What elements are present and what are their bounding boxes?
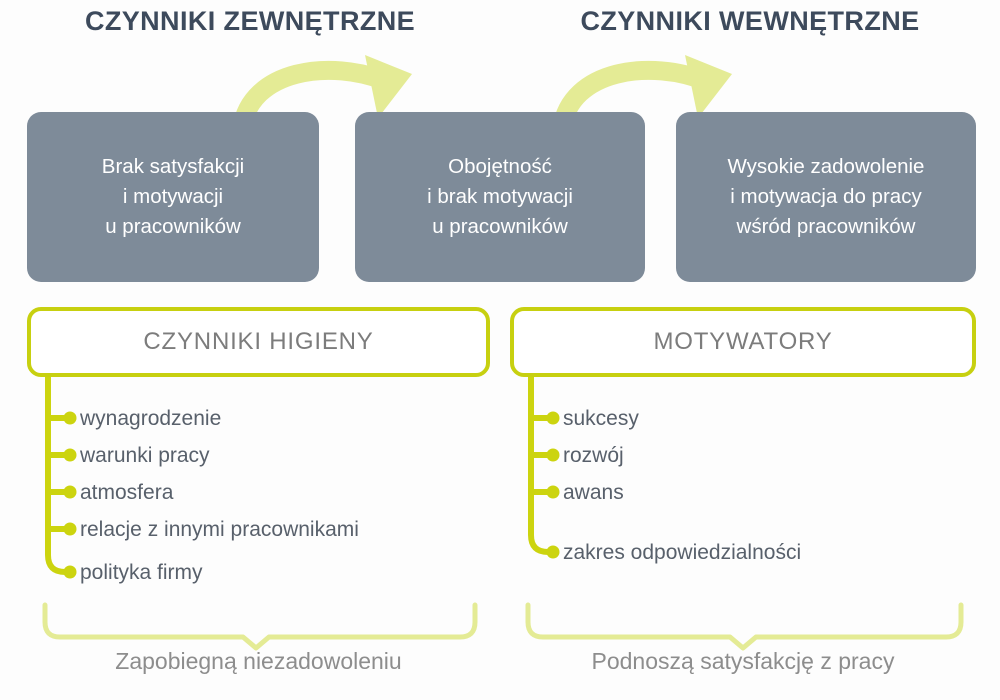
list-item: rozwój xyxy=(563,437,801,474)
bullet-list-hygiene: wynagrodzenie warunki pracy atmosfera re… xyxy=(80,400,359,591)
bullet-dot-icon xyxy=(64,412,77,425)
bullet-dot-icon xyxy=(547,546,560,559)
category-label-motivators: MOTYWATORY xyxy=(653,328,832,356)
bullet-list-motivators: sukcesy rozwój awans zakres odpowiedzial… xyxy=(563,400,801,571)
category-box-hygiene: CZYNNIKI HIGIENY xyxy=(27,307,490,377)
list-item: zakres odpowiedzialności xyxy=(563,534,801,571)
state-box-line: Brak satysfakcji xyxy=(102,152,244,182)
state-box-dissatisfaction: Brak satysfakcji i motywacji u pracownik… xyxy=(27,112,319,282)
tree-connector-motivators xyxy=(531,377,560,559)
bullet-dot-icon xyxy=(547,486,560,499)
caption-motivators: Podnoszą satysfakcję z pracy xyxy=(510,648,976,675)
state-box-line: u pracowników xyxy=(427,212,573,242)
column-title-internal: CZYNNIKI WEWNĘTRZNE xyxy=(500,6,1000,37)
state-box-line: wśród pracowników xyxy=(728,212,925,242)
state-box-line: i motywacji xyxy=(102,182,244,212)
list-item: warunki pracy xyxy=(80,437,359,474)
bullet-dot-icon xyxy=(547,412,560,425)
state-box-line: Obojętność xyxy=(427,152,573,182)
list-item: wynagrodzenie xyxy=(80,400,359,437)
list-item: polityka firmy xyxy=(80,554,359,591)
state-box-indifference: Obojętność i brak motywacji u pracownikó… xyxy=(355,112,645,282)
state-box-line: i brak motywacji xyxy=(427,182,573,212)
bullet-dot-icon xyxy=(64,523,77,536)
state-box-line: i motywacja do pracy xyxy=(728,182,925,212)
list-item: awans xyxy=(563,474,801,511)
tree-connector-hygiene xyxy=(48,377,77,579)
category-label-hygiene: CZYNNIKI HIGIENY xyxy=(143,328,373,356)
bullet-dot-icon xyxy=(64,449,77,462)
bullet-dot-icon xyxy=(64,566,77,579)
bullet-dot-icon xyxy=(64,486,77,499)
state-box-line: Wysokie zadowolenie xyxy=(728,152,925,182)
column-title-external: CZYNNIKI ZEWNĘTRZNE xyxy=(0,6,500,37)
state-box-high-satisfaction: Wysokie zadowolenie i motywacja do pracy… xyxy=(676,112,976,282)
bullet-dot-icon xyxy=(547,449,560,462)
bottom-bracket-hygiene xyxy=(45,605,475,648)
bottom-bracket-motivators xyxy=(528,605,961,648)
state-box-line: u pracowników xyxy=(102,212,244,242)
list-item: relacje z innymi pracownikami xyxy=(80,511,359,548)
list-item: atmosfera xyxy=(80,474,359,511)
list-item: sukcesy xyxy=(563,400,801,437)
caption-hygiene: Zapobiegną niezadowoleniu xyxy=(27,648,490,675)
category-box-motivators: MOTYWATORY xyxy=(510,307,976,377)
